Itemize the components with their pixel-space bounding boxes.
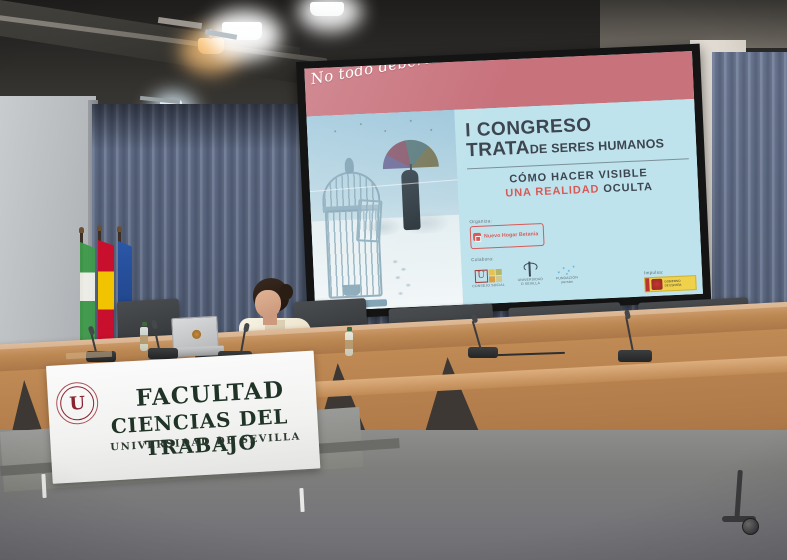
slide-illustration <box>306 110 463 312</box>
organiza-label: Organiza: <box>469 209 691 224</box>
speaker-hair-bun <box>279 284 293 300</box>
footprints-icon <box>387 254 429 302</box>
flag-bar-icon <box>645 278 650 291</box>
impulsa-label: Impulsa: <box>644 268 696 275</box>
water-bottle <box>344 327 354 357</box>
house-icon <box>473 233 481 241</box>
open-cage-door <box>356 199 382 242</box>
gobierno-espana-logo: GOBIERNODE ESPAÑA <box>644 275 697 292</box>
consejo-social-logo: U CONSEJO SOCIAL <box>472 269 505 288</box>
persan-caption: FUNDACIÓNpersán <box>556 275 578 284</box>
usevilla-crest-icon <box>522 261 538 277</box>
microphone <box>618 316 660 364</box>
walking-person-silhouette <box>401 170 421 231</box>
slide-subtitle-red: UNA REALIDAD <box>505 183 600 199</box>
speaker-face <box>255 290 281 318</box>
slide-content: No todo debería estar a la venta <box>304 51 703 311</box>
water-bottle <box>139 322 149 352</box>
organiser-name: Nuevo Hogar Betania <box>484 231 539 239</box>
persan-dots-icon <box>555 264 577 275</box>
sponsor-block: Impulsa: GOBIERNODE ESPAÑA <box>644 268 697 292</box>
slide-title-trata: TRATA <box>466 137 530 161</box>
gobierno-caption: GOBIERNODE ESPAÑA <box>664 279 681 287</box>
slide-title-rest: DE SERES HUMANOS <box>529 136 664 156</box>
slide-text-column: I CONGRESO TRATADE SERES HUMANOS CÓMO HA… <box>454 99 703 305</box>
u-letter-icon: U <box>474 269 488 283</box>
projection-screen: No todo debería estar a la venta <box>296 44 711 320</box>
faculty-banner: U FACULTAD CIENCIAS DEL TRABAJO UNIVERSI… <box>46 351 320 484</box>
microphone <box>148 326 182 360</box>
color-grid-icon <box>488 269 502 283</box>
birds-icon <box>327 116 448 143</box>
trolley-caster-wheel <box>742 518 759 535</box>
persan-logo: FUNDACIÓNpersán <box>555 264 578 284</box>
conference-hall-photo: No todo debería estar a la venta <box>0 0 787 560</box>
usevilla-caption: UNIVERSIDADD SEVILLA <box>518 277 544 286</box>
laptop-logo-icon <box>192 330 201 339</box>
universidad-sevilla-logo: UNIVERSIDADD SEVILLA <box>517 261 543 286</box>
organiser-logo: Nuevo Hogar Betania <box>470 223 545 249</box>
slide-subtitle-rest: OCULTA <box>603 181 653 195</box>
coat-of-arms-icon <box>651 279 662 290</box>
consejo-social-caption: CONSEJO SOCIAL <box>472 283 505 288</box>
